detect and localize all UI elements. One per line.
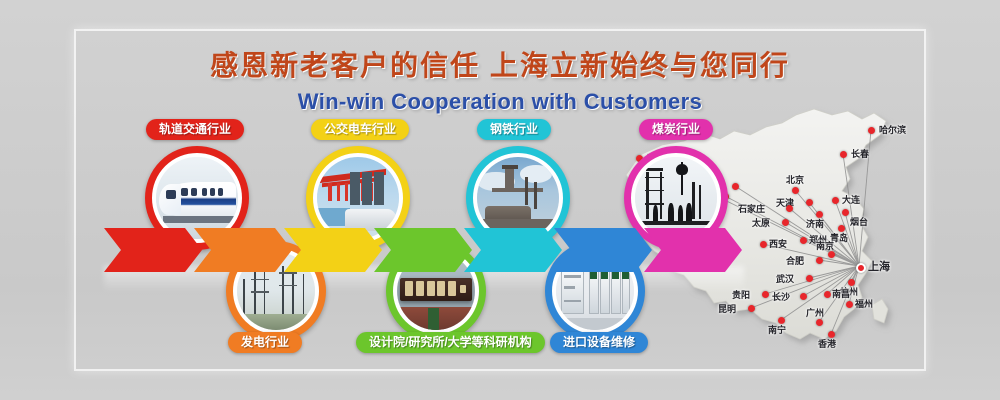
industry-badge-7[interactable]: 进口设备维修 [550,332,648,353]
industry-badge-5[interactable]: 发电行业 [228,332,302,353]
city-dot-icon [806,199,813,206]
city-dot-icon [816,319,823,326]
city-label: 昆明 [718,302,736,315]
city-dot-icon [732,183,739,190]
city-label: 南京 [816,239,834,252]
city-dot-icon [842,209,849,216]
city-label: 济南 [806,217,824,230]
ribbon-segment [104,228,202,272]
city-label: 南昌 [832,287,850,300]
city-label: 南宁 [768,323,786,336]
city-dot-icon [832,197,839,204]
city-dot-icon [762,291,769,298]
city-label: 长沙 [772,290,790,303]
ribbon-segment [644,228,742,272]
steel-mill-icon [477,157,559,239]
city-dot-icon [760,241,767,248]
city-label: 武汉 [776,272,794,285]
city-dot-icon [748,305,755,312]
city-dot-icon [828,251,835,258]
city-label: 西安 [769,237,787,250]
city-label: 长春 [851,147,869,160]
ribbon-segment [464,228,562,272]
city-dot-icon [856,263,866,273]
city-label: 合肥 [786,254,804,267]
city-label: 大连 [842,193,860,206]
headline-chinese: 感恩新老客户的信任 上海立新始终与您同行 [0,44,1000,84]
city-dot-icon [782,219,789,226]
city-dot-icon [800,237,807,244]
city-dot-icon [806,275,813,282]
city-label: 香港 [818,337,836,350]
city-dot-icon [824,291,831,298]
promo-banner: 感恩新老客户的信任 上海立新始终与您同行 Win-win Cooperation… [0,0,1000,400]
train-icon [156,157,238,239]
city-dot-icon [868,127,875,134]
train-scene [156,157,238,239]
city-dot-icon [792,187,799,194]
bus-icon [317,157,399,239]
city-dot-icon [816,257,823,264]
industry-badge-4[interactable]: 煤炭行业 [639,119,713,140]
coal-rig-icon [635,157,717,239]
ribbon-segment [374,228,472,272]
city-dot-icon [840,151,847,158]
steel-mill-scene [477,157,559,239]
ribbon-segment [194,228,292,272]
city-dot-icon [846,301,853,308]
expo-pavilion-scene [317,157,399,239]
city-label: 上海 [868,258,890,274]
city-label: 北京 [786,173,804,186]
industry-badge-6[interactable]: 设计院/研究所/大学等科研机构 [356,332,545,353]
city-label: 哈尔滨 [879,123,906,136]
industry-badge-3[interactable]: 钢铁行业 [477,119,551,140]
city-dot-icon [800,293,807,300]
industry-badge-2[interactable]: 公交电车行业 [311,119,409,140]
coal-rig-scene [635,157,717,239]
industry-badge-1[interactable]: 轨道交通行业 [146,119,244,140]
city-label: 石家庄 [738,202,765,215]
city-dot-icon [786,205,793,212]
city-label: 福州 [855,297,873,310]
city-label: 烟台 [850,215,868,228]
city-label: 广州 [806,306,824,319]
city-label: 太原 [752,216,770,229]
